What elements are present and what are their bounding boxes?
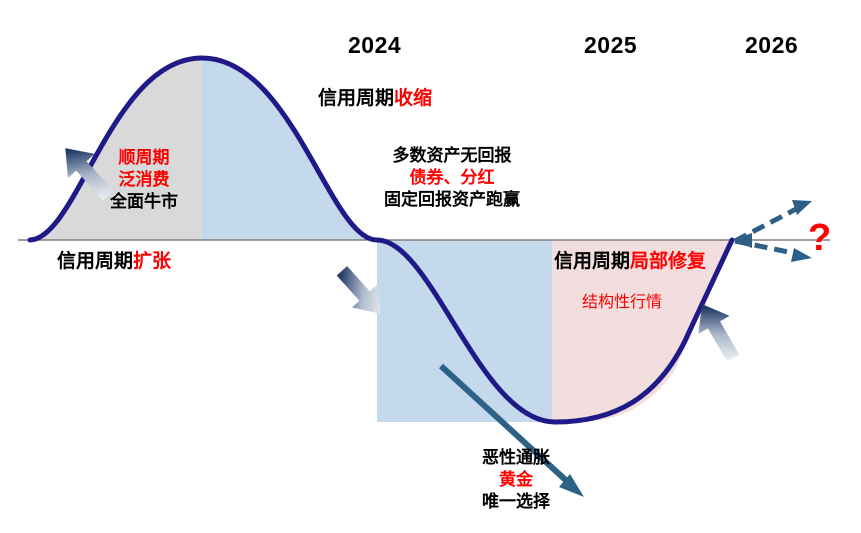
annotation-expansion-line2: 泛消费 — [84, 169, 204, 191]
annotation-expansion-assets: 顺周期 泛消费 全面牛市 — [84, 147, 204, 212]
annotation-inflation-assets: 恶性通胀 黄金 唯一选择 — [446, 447, 586, 512]
phase-label-expansion: 信用周期扩张 — [57, 250, 171, 274]
phase-label-repair-prefix: 信用周期 — [554, 251, 630, 272]
annotation-contraction-line1: 多数资产无回报 — [362, 145, 542, 167]
year-label-2025: 2025 — [584, 31, 637, 60]
annotation-inflation-line1: 恶性通胀 — [446, 447, 586, 469]
phase-label-contraction-prefix: 信用周期 — [318, 88, 394, 109]
phase-label-repair-highlight: 局部修复 — [630, 251, 706, 272]
year-label-2026: 2026 — [745, 31, 798, 60]
annotation-contraction-assets: 多数资产无回报 债券、分红 固定回报资产跑赢 — [362, 145, 542, 210]
region-contraction-upper — [202, 58, 377, 240]
dashed-up-arrow-icon — [735, 200, 812, 241]
annotation-inflation-line2: 黄金 — [446, 469, 586, 491]
phase-label-contraction: 信用周期收缩 — [318, 87, 432, 111]
credit-cycle-diagram: 2024 2025 2026 信用周期收缩 信用周期扩张 信用周期局部修复 顺周… — [0, 0, 861, 533]
year-label-2024: 2024 — [348, 31, 401, 60]
annotation-expansion-line3: 全面牛市 — [84, 191, 204, 213]
annotation-contraction-line2: 债券、分红 — [362, 167, 542, 189]
phase-label-contraction-highlight: 收缩 — [394, 88, 432, 109]
question-mark-icon: ? — [808, 219, 831, 257]
annotation-inflation-line3: 唯一选择 — [446, 491, 586, 513]
annotation-contraction-line3: 固定回报资产跑赢 — [362, 189, 542, 211]
phase-label-expansion-prefix: 信用周期 — [57, 251, 133, 272]
annotation-expansion-line1: 顺周期 — [84, 147, 204, 169]
phase-label-repair: 信用周期局部修复 — [554, 250, 706, 274]
annotation-structural-market: 结构性行情 — [582, 293, 662, 313]
phase-label-expansion-highlight: 扩张 — [133, 251, 171, 272]
